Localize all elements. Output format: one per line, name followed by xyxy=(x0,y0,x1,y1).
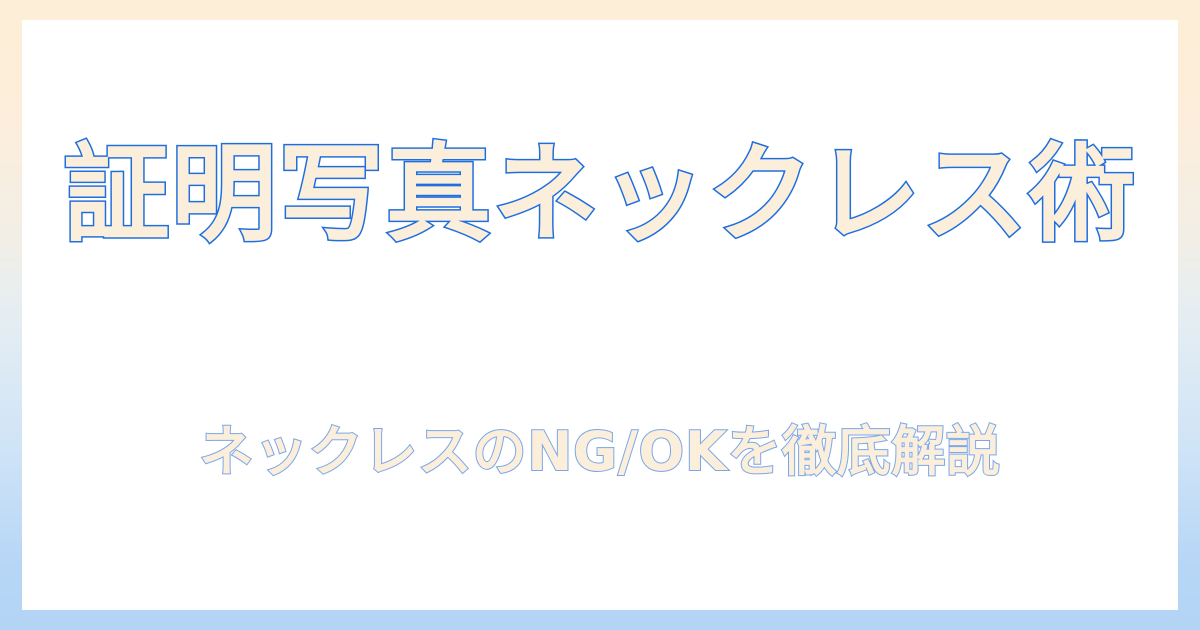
subtitle-block: ネックレスのNG/OKを徹底解説 xyxy=(22,377,1178,526)
white-content-card: 証明写真ネックレス術 ネックレスのNG/OKを徹底解説 xyxy=(22,20,1178,610)
page-title: 証明写真ネックレス術 xyxy=(64,139,1137,251)
title-block: 証明写真ネックレス術 xyxy=(22,68,1178,322)
page-subtitle: ネックレスのNG/OKを徹底解説 xyxy=(199,422,1000,481)
thumbnail-canvas: 証明写真ネックレス術 ネックレスのNG/OKを徹底解説 xyxy=(0,0,1200,630)
hero-content: 証明写真ネックレス術 ネックレスのNG/OKを徹底解説 xyxy=(22,20,1178,610)
